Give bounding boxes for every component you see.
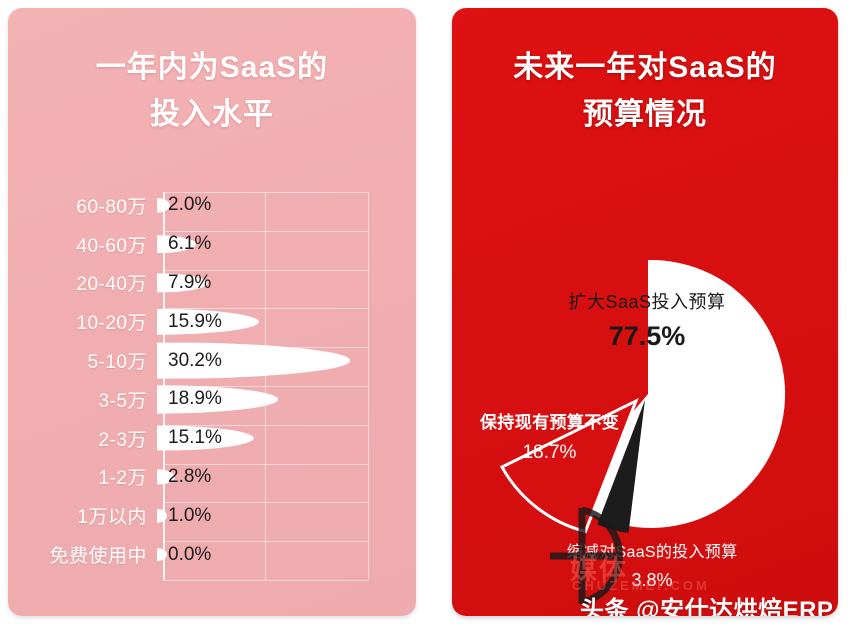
funnel-bar-chart: 60-80万2.0%40-60万6.1%20-40万7.9%10-20万15.9…: [8, 186, 416, 586]
watermark-platform: 头条 @安仕达烘焙ERP: [580, 590, 833, 616]
funnel-row-label: 2-3万: [8, 425, 156, 452]
funnel-row-label: 10-20万: [8, 308, 156, 335]
funnel-row-label: 3-5万: [8, 386, 156, 413]
funnel-row: 3-5万18.9%: [8, 380, 416, 419]
pie-label-reduce-value: 3.8%: [507, 570, 797, 591]
funnel-row-bar-area: 6.1%: [156, 225, 416, 264]
left-title-line-2: 投入水平: [8, 91, 416, 138]
funnel-row: 40-60万6.1%: [8, 225, 416, 264]
pie-label-keep-name: 保持现有预算不变: [452, 408, 652, 433]
funnel-row-bar-area: 18.9%: [156, 380, 416, 419]
infographic-root: 一年内为SaaS的 投入水平 60-80万2.0%40-60万6.1%20-40…: [0, 0, 852, 634]
funnel-row-label: 5-10万: [8, 347, 156, 374]
left-title-line-1: 一年内为SaaS的: [8, 44, 416, 91]
funnel-row-bar-area: 7.9%: [156, 264, 416, 303]
pie-chart: 扩大SaaS投入预算 77.5% 保持现有预算不变 18.7% 缩减对SaaS的…: [452, 8, 838, 616]
funnel-row-bar-area: 30.2%: [156, 341, 416, 380]
pie-label-expand-value: 77.5%: [522, 321, 772, 352]
funnel-row: 2-3万15.1%: [8, 419, 416, 458]
funnel-row: 免费使用中0.0%: [8, 535, 416, 574]
funnel-row-label: 免费使用中: [8, 541, 156, 568]
funnel-row-label: 1万以内: [8, 502, 156, 529]
gridline-horizontal: [163, 580, 368, 581]
funnel-row-value: 0.0%: [168, 544, 211, 566]
funnel-row-value: 2.0%: [168, 194, 211, 216]
panel-budget-outlook: 未来一年对SaaS的 预算情况 扩大SaaS投入预算 77.5% 保持现有预算不…: [452, 8, 838, 616]
left-panel-title: 一年内为SaaS的 投入水平: [8, 44, 416, 138]
funnel-row-value: 2.8%: [168, 466, 211, 488]
funnel-row-bar-area: 2.8%: [156, 458, 416, 497]
funnel-row-value: 1.0%: [168, 505, 211, 527]
funnel-row-value: 15.9%: [168, 311, 222, 333]
funnel-row-label: 60-80万: [8, 192, 156, 219]
funnel-row-value: 18.9%: [168, 388, 222, 410]
pie-label-expand-name: 扩大SaaS投入预算: [522, 288, 772, 314]
funnel-row-bar-area: 15.9%: [156, 302, 416, 341]
funnel-row-value: 15.1%: [168, 427, 222, 449]
funnel-row-value: 6.1%: [168, 233, 211, 255]
funnel-row: 1万以内1.0%: [8, 496, 416, 535]
funnel-row-label: 1-2万: [8, 463, 156, 490]
funnel-row: 1-2万2.8%: [8, 458, 416, 497]
funnel-row-bar-area: 2.0%: [156, 186, 416, 225]
panel-investment-level: 一年内为SaaS的 投入水平 60-80万2.0%40-60万6.1%20-40…: [8, 8, 416, 616]
funnel-row-bar-area: 0.0%: [156, 535, 416, 574]
funnel-bar: [157, 548, 167, 561]
funnel-row-value: 7.9%: [168, 272, 211, 294]
funnel-row-bar-area: 15.1%: [156, 419, 416, 458]
funnel-row: 10-20万15.9%: [8, 302, 416, 341]
funnel-row-bar-area: 1.0%: [156, 496, 416, 535]
funnel-bar: [157, 509, 167, 523]
funnel-row-label: 20-40万: [8, 269, 156, 296]
funnel-row: 20-40万7.9%: [8, 264, 416, 303]
funnel-row: 60-80万2.0%: [8, 186, 416, 225]
funnel-row-label: 40-60万: [8, 231, 156, 258]
pie-label-keep-value: 18.7%: [452, 442, 652, 464]
pie-label-reduce-name: 缩减对SaaS的投入预算: [507, 538, 797, 562]
pie-label-expand: 扩大SaaS投入预算 77.5%: [522, 288, 772, 352]
funnel-row: 5-10万30.2%: [8, 341, 416, 380]
funnel-row-value: 30.2%: [168, 350, 222, 372]
pie-label-reduce: 缩减对SaaS的投入预算 3.8%: [507, 538, 797, 591]
pie-label-keep: 保持现有预算不变 18.7%: [452, 408, 652, 464]
